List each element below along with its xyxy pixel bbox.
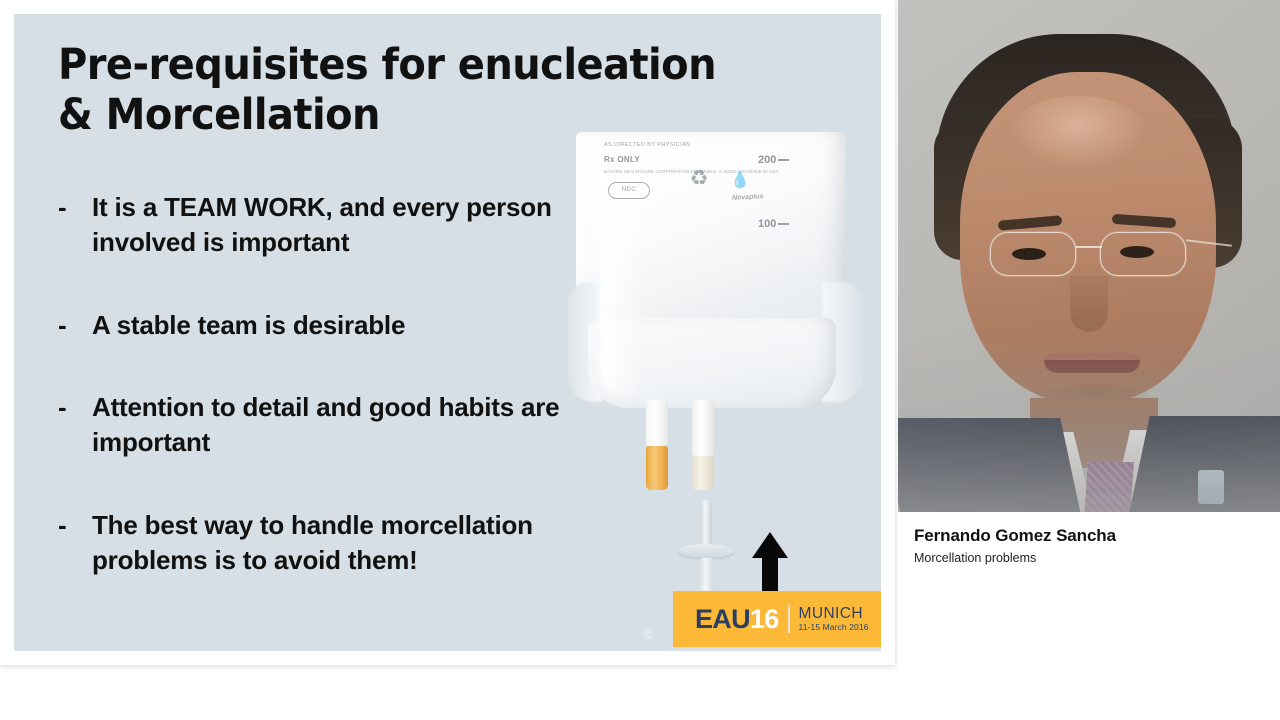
eau-logo-date: 11-15 March 2016 xyxy=(799,623,869,632)
slide-title: Pre-requisites for enucleation & Morcell… xyxy=(58,40,793,141)
speaker-video-frame[interactable] xyxy=(898,0,1280,512)
bullet-text-2: A stable team is desirable xyxy=(92,308,405,343)
iv-bag-image: AS DIRECTED BY PHYSICIAN Rx ONLY NDC ♻ 💧… xyxy=(554,132,874,552)
bullet-item-3: - Attention to detail and good habits ar… xyxy=(58,390,618,460)
iv-bag-port-administration xyxy=(692,400,714,490)
iv-spike-connector xyxy=(689,500,723,592)
eau-logo-city: MUNICH xyxy=(799,606,869,623)
graduation-100-value: 100 xyxy=(758,218,776,230)
graduation-tick-icon xyxy=(778,223,789,224)
up-arrow-annotation-icon xyxy=(752,532,788,592)
bullet-item-1: - It is a TEAM WORK, and every person in… xyxy=(58,190,618,260)
iv-bag-port-injection xyxy=(646,400,668,490)
eau-logo-wordmark: EAU16 xyxy=(695,606,779,633)
arrow-head xyxy=(752,532,788,558)
graduation-mark-100: 100 xyxy=(758,218,789,230)
eau16-congress-logo: EAU16 MUNICH 11-15 March 2016 xyxy=(673,591,881,647)
bullet-dash-icon: - xyxy=(58,508,92,578)
bullet-text-4: The best way to handle morcellation prob… xyxy=(92,508,618,578)
speaker-talk-title: Morcellation problems xyxy=(914,551,1264,565)
iv-bag-label-rx: Rx ONLY xyxy=(604,155,824,164)
eau-logo-year-text: 16 xyxy=(750,604,779,634)
bullet-dash-icon: - xyxy=(58,390,92,460)
bullet-item-2: - A stable team is desirable xyxy=(58,308,618,343)
iv-bag-fineprint: BAXTER HEALTHCARE CORPORATION DEERFIELD,… xyxy=(604,169,824,176)
slide-panel[interactable]: Pre-requisites for enucleation & Morcell… xyxy=(0,0,895,665)
port-tip xyxy=(692,456,714,490)
slide-bullet-list: - It is a TEAM WORK, and every person in… xyxy=(58,190,618,578)
eyeglass-lens-left xyxy=(990,232,1076,276)
eyeglass-bridge xyxy=(1076,246,1102,248)
port-stem xyxy=(646,400,668,446)
eau-logo-divider xyxy=(788,605,790,633)
speaker-info-panel: Fernando Gomez Sancha Morcellation probl… xyxy=(898,512,1280,720)
slide-title-line-1: Pre-requisites for enucleation xyxy=(58,40,793,90)
graduation-mark-200: 200 xyxy=(758,154,789,166)
speaker-nose xyxy=(1070,276,1108,332)
speaker-column: Fernando Gomez Sancha Morcellation probl… xyxy=(898,0,1280,720)
arrow-shaft xyxy=(762,558,778,594)
eau-logo-eau-text: EAU xyxy=(695,604,750,634)
port-stem xyxy=(692,400,714,456)
speaker-eyeglasses xyxy=(990,232,1202,278)
speaker-forehead-highlight xyxy=(1008,96,1148,170)
speaker-name: Fernando Gomez Sancha xyxy=(914,526,1264,546)
graduation-tick-icon xyxy=(778,159,789,160)
bullet-item-4: - The best way to handle morcellation pr… xyxy=(58,508,618,578)
iv-bag-label-top: AS DIRECTED BY PHYSICIAN xyxy=(604,142,824,148)
eyeglass-lens-right xyxy=(1100,232,1186,276)
bullet-text-1: It is a TEAM WORK, and every person invo… xyxy=(92,190,618,260)
presentation-viewer: Pre-requisites for enucleation & Morcell… xyxy=(0,0,1280,720)
photo-vignette xyxy=(898,332,1280,512)
spike-flange xyxy=(678,544,734,558)
slide-canvas[interactable]: Pre-requisites for enucleation & Morcell… xyxy=(14,14,881,651)
bullet-dash-icon: - xyxy=(58,308,92,343)
bullet-text-3: Attention to detail and good habits are … xyxy=(92,390,618,460)
port-tip-orange xyxy=(646,446,668,490)
spike-needle xyxy=(700,500,712,544)
copyright-watermark: © xyxy=(643,627,653,642)
iv-bag-ndc-icon: NDC xyxy=(608,182,650,199)
spike-tube xyxy=(700,558,713,592)
iv-bag-label: AS DIRECTED BY PHYSICIAN Rx ONLY NDC ♻ 💧… xyxy=(604,142,824,176)
eau-logo-location-block: MUNICH 11-15 March 2016 xyxy=(799,606,869,633)
bullet-dash-icon: - xyxy=(58,190,92,260)
graduation-200-value: 200 xyxy=(758,154,776,166)
